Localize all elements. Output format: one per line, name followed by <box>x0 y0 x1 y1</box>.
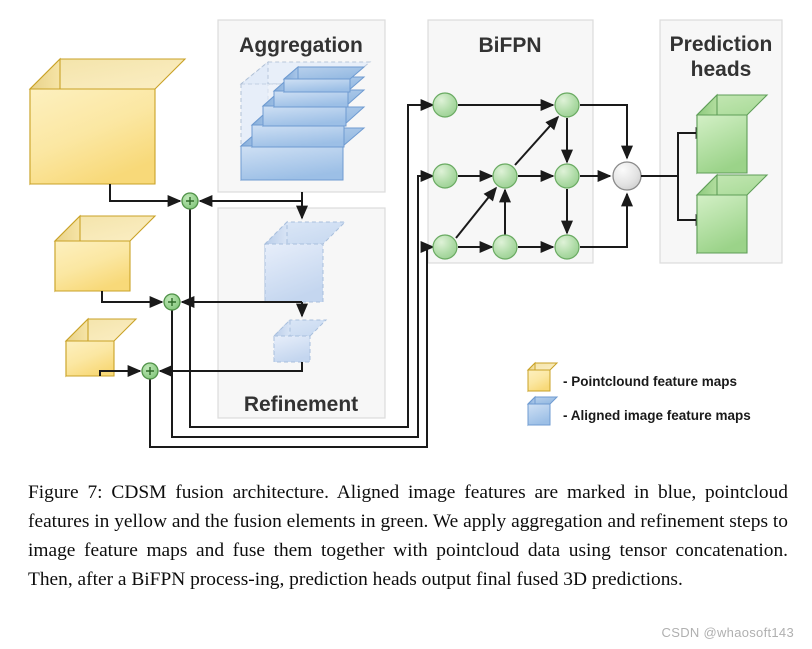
panel-title-prediction-line1: Prediction <box>670 33 773 56</box>
pointcloud-feature-map-medium <box>55 216 155 291</box>
panel-title-refinement: Refinement <box>244 393 358 416</box>
edge-aggregation-to-fusion1 <box>200 192 302 201</box>
pointcloud-feature-map-large <box>30 59 185 184</box>
bifpn-node-p2-out <box>555 164 579 188</box>
bifpn-node-p1-in <box>433 93 457 117</box>
legend-image-cube-icon <box>528 397 557 425</box>
bifpn-node-p3-out <box>555 235 579 259</box>
bifpn-node-p3-mid <box>493 235 517 259</box>
panel-title-prediction-line2: heads <box>691 58 752 81</box>
bifpn-node-p1-out <box>555 93 579 117</box>
legend-image-label: - Aligned image feature maps <box>563 408 751 423</box>
fusion-node-level-1 <box>182 193 198 209</box>
figure-diagram: Aggregation Refinement BiFPN Prediction … <box>0 0 812 465</box>
edge-pc-medium-to-fusion2 <box>102 291 162 302</box>
bifpn-output-concat-node <box>613 162 641 190</box>
legend-pointcloud-cube-icon <box>528 363 557 391</box>
watermark: CSDN @whaosoft143 <box>662 625 794 640</box>
bifpn-node-p2-mid <box>493 164 517 188</box>
figure-caption: Figure 7: CDSM fusion architecture. Alig… <box>28 478 788 594</box>
legend: - Pointclound feature maps - Aligned ima… <box>528 363 751 425</box>
fusion-node-level-2 <box>164 294 180 310</box>
panel-title-aggregation: Aggregation <box>239 34 363 57</box>
panel-title-bifpn: BiFPN <box>479 34 542 57</box>
bifpn-node-p2-in <box>433 164 457 188</box>
bifpn-node-p3-in <box>433 235 457 259</box>
legend-pointcloud-label: - Pointclound feature maps <box>563 374 737 389</box>
pointcloud-feature-map-small <box>66 319 136 376</box>
panel-bifpn: BiFPN <box>428 20 593 263</box>
fusion-node-level-3 <box>142 363 158 379</box>
edge-pc-large-to-fusion1 <box>110 184 180 201</box>
